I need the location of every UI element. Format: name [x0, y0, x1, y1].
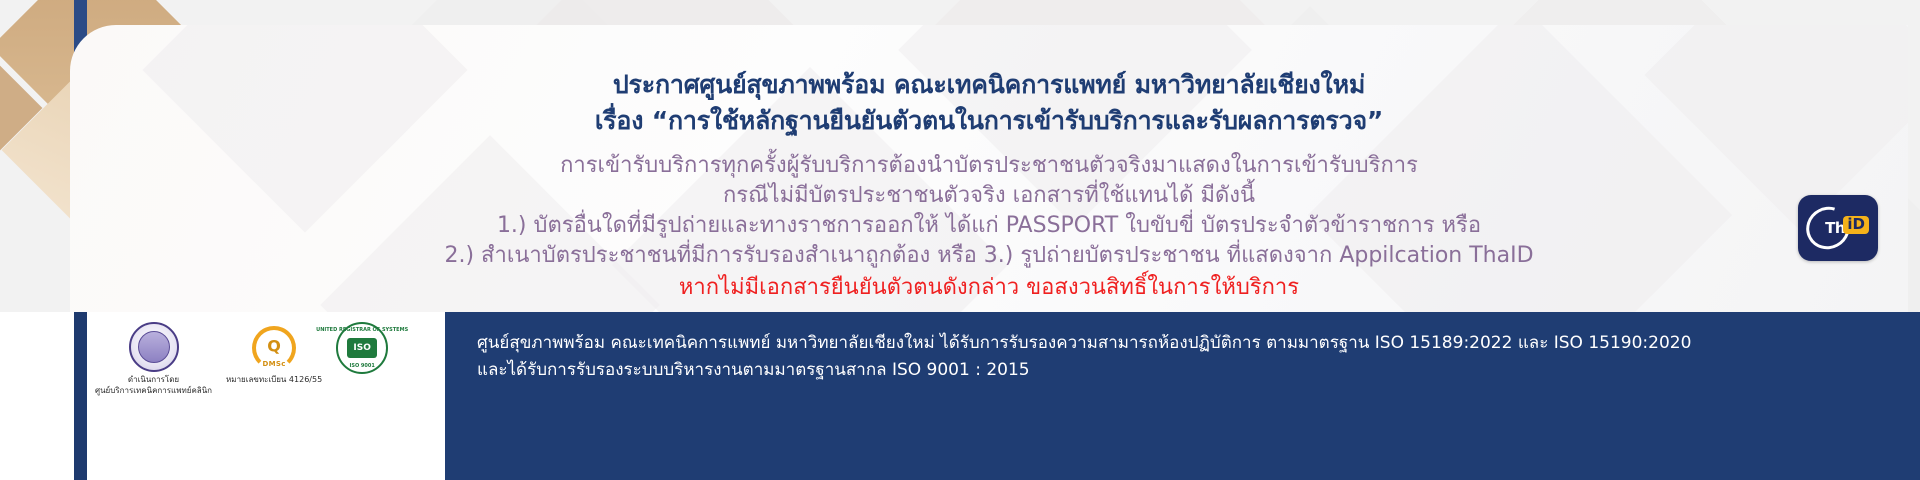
footer-accent-bar: [74, 312, 87, 480]
urs-iso-mark: ISO: [347, 338, 377, 358]
footer-accreditation-text: ศูนย์สุขภาพพร้อม คณะเทคนิคการแพทย์ มหาวิ…: [445, 312, 1920, 480]
content-card: ประกาศศูนย์สุขภาพพร้อม คณะเทคนิคการแพทย์…: [70, 25, 1908, 312]
announcement-body-line-2: กรณีไม่มีบัตรประชาชนตัวจริง เอกสารที่ใช้…: [70, 181, 1908, 211]
thaid-id-chip: iD: [1843, 216, 1869, 234]
announcement-warning-text: หากไม่มีเอกสารยืนยันตัวตนดังกล่าว ขอสงวน…: [70, 273, 1908, 303]
urs-top-text: UNITED REGISTRAR OF SYSTEMS: [316, 327, 408, 333]
accreditation-logo-caption: ดำเนินการโดย ศูนย์บริการเทคนิคการแพทย์คล…: [95, 374, 212, 396]
announcement-body-line-3: 1.) บัตรอื่นใดที่มีรูปถ่ายและทางราชการออ…: [70, 211, 1908, 241]
accreditation-logo-caption: หมายเลขทะเบียน 4126/55: [226, 374, 322, 385]
thaid-glyph: Tha iD: [1806, 205, 1870, 251]
announcement-banner: ประกาศศูนย์สุขภาพพร้อม คณะเทคนิคการแพทย์…: [0, 0, 1920, 480]
thaid-logo: Tha iD: [1798, 195, 1878, 261]
accreditation-logo-item: ดำเนินการโดย ศูนย์บริการเทคนิคการแพทย์คล…: [95, 322, 212, 396]
footer: ดำเนินการโดย ศูนย์บริการเทคนิคการแพทย์คล…: [0, 312, 1920, 480]
announcement-headline-line-1: ประกาศศูนย์สุขภาพพร้อม คณะเทคนิคการแพทย์…: [70, 67, 1908, 103]
footer-text-line-1: ศูนย์สุขภาพพร้อม คณะเทคนิคการแพทย์ มหาวิ…: [477, 330, 1890, 357]
urs-bottom-text: ISO 9001: [349, 363, 374, 369]
footer-logo-panel: ดำเนินการโดย ศูนย์บริการเทคนิคการแพทย์คล…: [0, 312, 445, 480]
dmsc-sub-mark: DMSc: [263, 360, 286, 368]
announcement-body-line-4: 2.) สำเนาบัตรประชาชนที่มีการรับรองสำเนาถ…: [70, 241, 1908, 271]
accreditation-logo-row: ดำเนินการโดย ศูนย์บริการเทคนิคการแพทย์คล…: [95, 322, 388, 396]
announcement-body-line-1: การเข้ารับบริการทุกครั้งผู้รับบริการต้อง…: [70, 151, 1908, 181]
dmsc-q-mark: Q: [267, 336, 281, 355]
cmu-health-center-seal-icon: [129, 322, 179, 372]
dmsc-quality-seal-icon: Q DMSc: [249, 322, 299, 372]
accreditation-logo-item: UNITED REGISTRAR OF SYSTEMS ISO ISO 9001: [336, 322, 388, 374]
accreditation-logo-item: Q DMSc หมายเลขทะเบียน 4126/55: [226, 322, 322, 385]
announcement-headline-line-2: เรื่อง “การใช้หลักฐานยืนยันตัวตนในการเข้…: [70, 103, 1908, 139]
footer-text-line-2: และได้รับการรับรองระบบบริหารงานตามมาตรฐา…: [477, 357, 1890, 384]
urs-iso-certification-seal-icon: UNITED REGISTRAR OF SYSTEMS ISO ISO 9001: [336, 322, 388, 374]
